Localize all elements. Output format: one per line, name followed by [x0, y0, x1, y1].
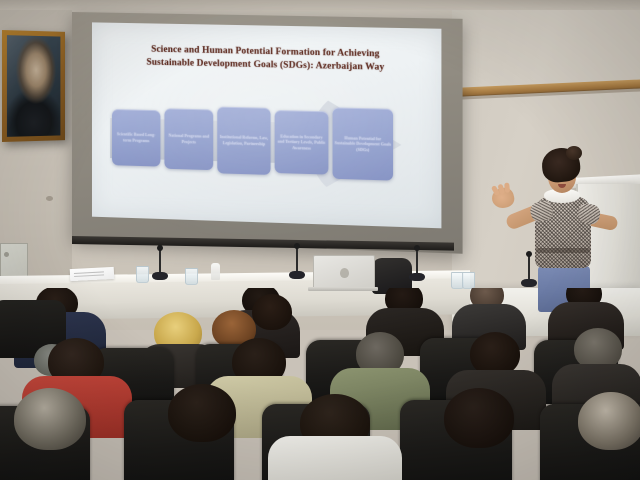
drinking-glass [185, 268, 198, 285]
microphone-base [289, 271, 305, 279]
audience-area [0, 288, 640, 480]
diagram-step-list: Scientific Based Long-term Programs Nati… [112, 95, 401, 188]
wall-scuff-mark [46, 196, 53, 201]
laptop-logo-icon [340, 268, 349, 278]
framed-portrait [2, 30, 65, 142]
auditorium-photo: Science and Human Potential Formation fo… [0, 0, 640, 480]
panel-knob-icon [4, 252, 9, 257]
drinking-glass [136, 266, 149, 283]
speaker-belt [536, 248, 590, 253]
drinking-glass [462, 272, 475, 289]
diagram-step-4: Education in Secondary and Tertiary Leve… [275, 110, 329, 175]
microphone-base [152, 272, 168, 280]
microphone-base [409, 273, 425, 281]
ceiling-edge [0, 0, 640, 10]
speaker-presenter [490, 148, 610, 300]
audience-head [444, 388, 514, 448]
audience-head [168, 384, 236, 442]
audience-head [252, 294, 292, 330]
presentation-slide: Science and Human Potential Formation fo… [92, 22, 441, 228]
diagram-step-5: Human Potential for Sustainable Developm… [333, 107, 394, 180]
finger [504, 182, 510, 192]
mouth [558, 184, 566, 188]
slide-title: Science and Human Potential Formation fo… [106, 42, 427, 75]
audience-head [578, 392, 640, 450]
microphone-base [521, 279, 537, 287]
diagram-step-1: Scientific Based Long-term Programs [112, 109, 160, 167]
projection-screen: Science and Human Potential Formation fo… [72, 12, 463, 254]
audience-body-white-shirt [268, 436, 402, 480]
audience-head [14, 388, 86, 450]
speaker-hair-bun [566, 146, 582, 160]
laptop [313, 255, 375, 291]
diagram-step-3: Institutional Reforms, Law, Legislation,… [217, 107, 270, 175]
portrait-image [7, 35, 60, 137]
diagram-step-2: National Programs and Projects [164, 108, 213, 170]
documents-on-table [70, 267, 115, 281]
water-bottle [211, 263, 220, 280]
speaker-left-hand [490, 186, 516, 211]
